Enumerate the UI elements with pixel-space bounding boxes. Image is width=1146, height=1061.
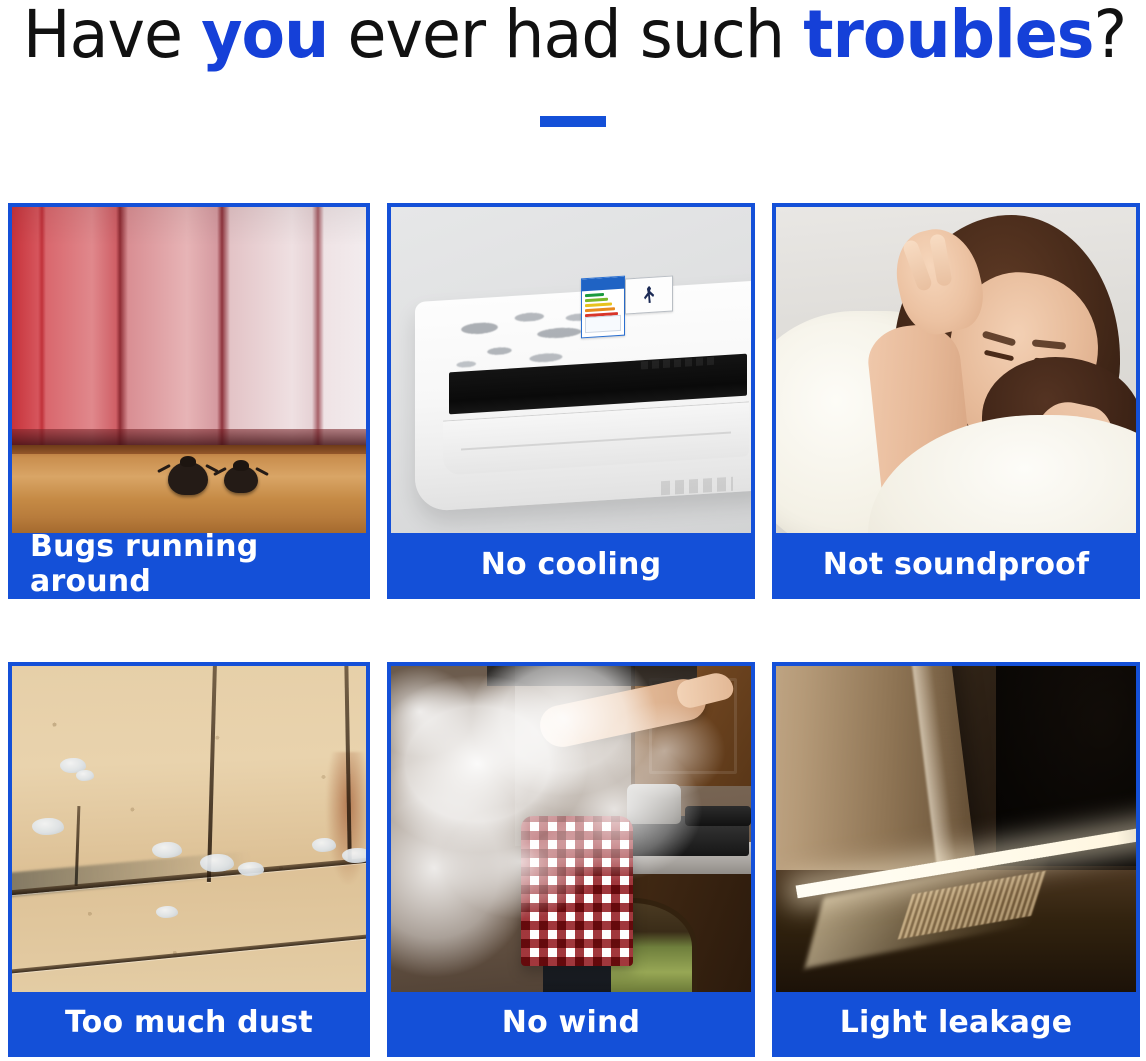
- cockroach-icon: [224, 466, 258, 493]
- air-conditioner-image: [391, 207, 751, 533]
- trouble-card-light-leakage[interactable]: Light leakage: [772, 662, 1140, 1057]
- caption-no-cooling: No cooling: [391, 533, 751, 595]
- certification-label-icon: [625, 275, 673, 314]
- headline-accent-you: you: [201, 0, 328, 73]
- energy-label-footer: [585, 315, 621, 333]
- photo-no-wind: [391, 666, 751, 992]
- caption-no-wind: No wind: [391, 992, 751, 1053]
- dust-clump: [152, 842, 182, 858]
- dust-clump: [156, 906, 178, 918]
- trouble-card-no-cooling[interactable]: No cooling: [387, 203, 755, 599]
- caption-light-leakage: Light leakage: [776, 992, 1136, 1053]
- floorboard-seam-vertical: [207, 666, 217, 882]
- caption-too-much-dust: Too much dust: [12, 992, 366, 1053]
- photo-bugs-running-around: [12, 207, 366, 533]
- red-door-image: [12, 207, 366, 533]
- trouble-card-bugs[interactable]: Bugs running around: [8, 203, 370, 599]
- headline-accent-troubles: troubles: [803, 0, 1093, 73]
- dust-clump: [76, 770, 94, 781]
- dust-clump: [342, 848, 366, 863]
- frying-pan: [685, 806, 751, 826]
- trouble-card-grid: Bugs running around No cooling: [8, 203, 1140, 1057]
- woman-covering-ears-image: [776, 207, 1136, 533]
- headline-part-3: ?: [1094, 0, 1127, 73]
- energy-label-bars: [582, 289, 624, 318]
- energy-rating-label-icon: [581, 276, 625, 339]
- trouble-card-too-much-dust[interactable]: Too much dust: [8, 662, 370, 1057]
- page-title: Have you ever had such troubles?: [23, 0, 1123, 76]
- dust-clump: [312, 838, 336, 852]
- divider-container: [0, 112, 1146, 131]
- cockroach-icon: [168, 462, 208, 495]
- blue-divider-bar: [540, 116, 606, 127]
- cooking-pot: [627, 784, 681, 824]
- dust-clump: [238, 862, 264, 876]
- headline-part-1: Have: [23, 0, 201, 73]
- headline-part-2: ever had such: [328, 0, 803, 73]
- trouble-card-no-wind[interactable]: No wind: [387, 662, 755, 1057]
- door-base: [12, 429, 366, 445]
- floorboard-seam-horizontal: [12, 933, 366, 975]
- light-under-door-image: [776, 666, 1136, 992]
- caption-bugs: Bugs running around: [12, 533, 366, 595]
- smoky-kitchen-image: [391, 666, 751, 992]
- photo-light-leakage: [776, 666, 1136, 992]
- trouble-card-not-soundproof[interactable]: Not soundproof: [772, 203, 1140, 599]
- photo-too-much-dust: [12, 666, 366, 992]
- dust-clump: [200, 854, 234, 872]
- caption-not-soundproof: Not soundproof: [776, 533, 1136, 595]
- checkered-shirt: [521, 816, 633, 966]
- dusty-floorboards-image: [12, 666, 366, 992]
- cockroach-head: [180, 456, 196, 467]
- dust-clump: [32, 818, 64, 835]
- photo-no-cooling: [391, 207, 751, 533]
- cockroach-head: [233, 460, 249, 471]
- photo-not-soundproof: [776, 207, 1136, 533]
